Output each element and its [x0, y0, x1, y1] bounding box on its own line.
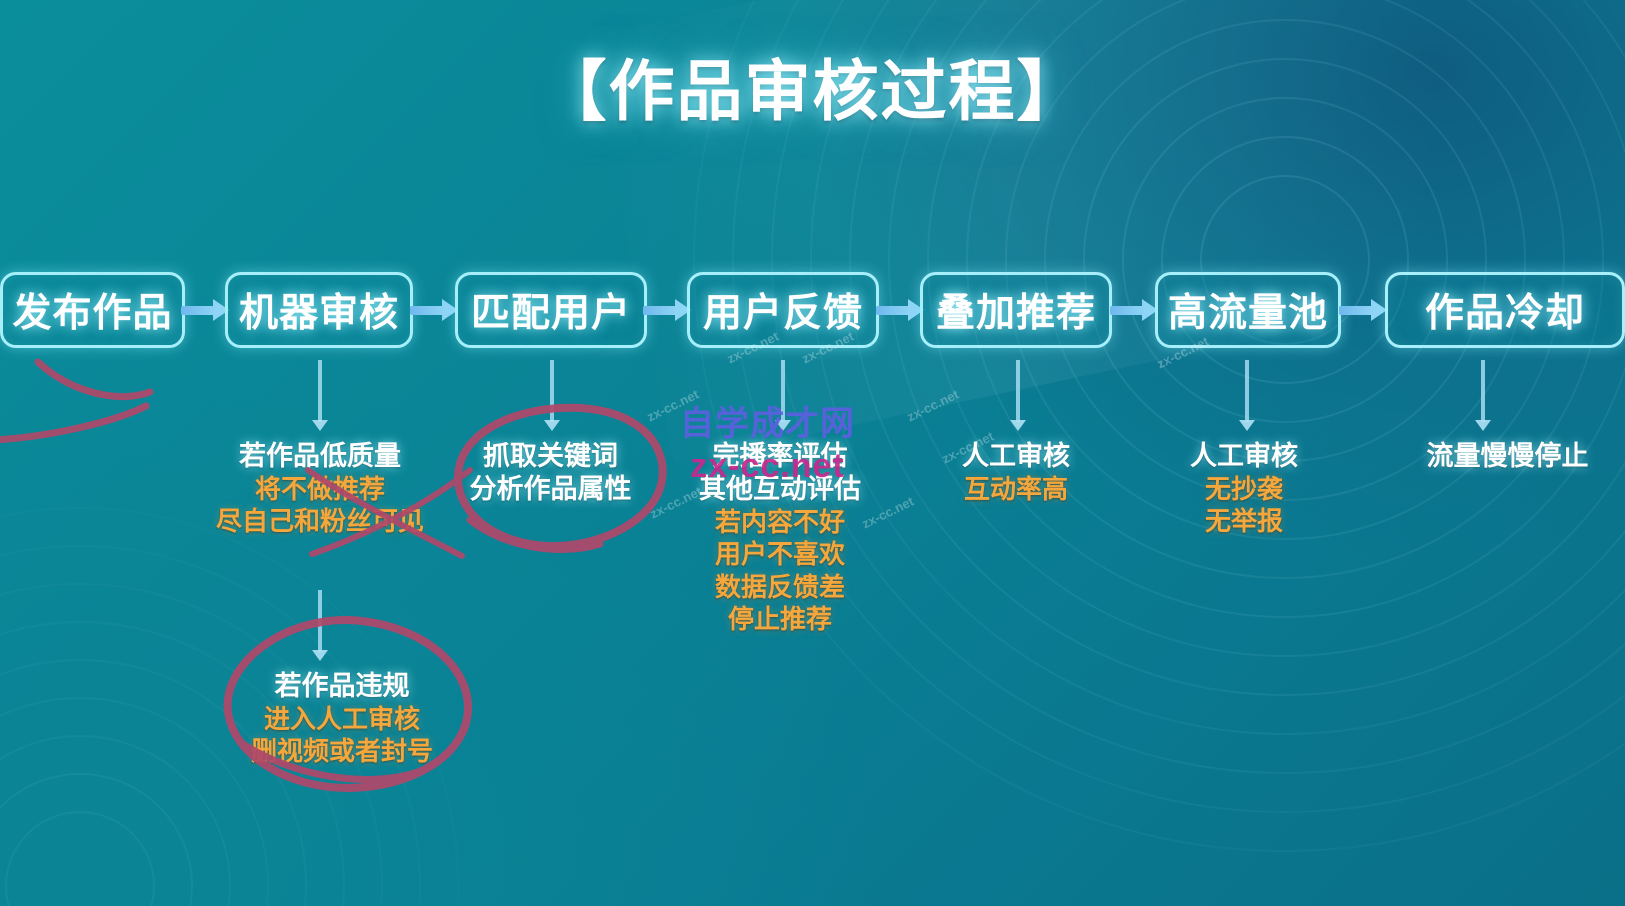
down-arrow-superimposed-recommend-detail	[1010, 360, 1026, 422]
arrow-shaft	[318, 590, 322, 652]
column-highlight-line: 若作品违规	[222, 670, 462, 703]
arrow-shaft	[1016, 360, 1020, 422]
down-arrow-high-traffic-pool-detail	[1239, 360, 1255, 422]
flow-node-label: 用户反馈	[703, 282, 863, 338]
arrow-shaft	[318, 360, 322, 422]
arrow-head	[1010, 420, 1026, 431]
arrow-shaft	[181, 306, 215, 315]
flow-arrow-6	[1339, 299, 1387, 321]
process-flow-row: 发布作品机器审核匹配用户用户反馈叠加推荐高流量池作品冷却	[0, 272, 1625, 350]
column-machine-review-low-quality: 若作品低质量将不做推荐尽自己和粉丝可见	[200, 440, 440, 538]
flow-arrow-3	[643, 299, 691, 321]
flow-arrow-1	[181, 299, 229, 321]
flow-node-label: 发布作品	[12, 282, 172, 338]
arrow-shaft	[1339, 306, 1373, 315]
column-sub-line: 用户不喜欢	[685, 538, 875, 571]
column-sub-line: 将不做推荐	[200, 473, 440, 506]
column-highlight-line: 抓取关键词	[443, 440, 658, 473]
flow-node-label: 作品冷却	[1425, 282, 1585, 338]
arrow-shaft	[1481, 360, 1485, 422]
flow-arrow-2	[410, 299, 458, 321]
column-high-traffic-pool-detail: 人工审核无抄袭无举报	[1158, 440, 1330, 538]
column-sub-line: 无抄袭	[1158, 473, 1330, 506]
column-sub-line: 尽自己和粉丝可见	[200, 505, 440, 538]
arrow-shaft	[643, 306, 677, 315]
flow-node-1[interactable]: 发布作品	[0, 272, 185, 348]
down-arrow-machine-review-low-quality	[312, 360, 328, 422]
flow-node-3[interactable]: 匹配用户	[455, 272, 647, 348]
column-highlight-line: 流量慢慢停止	[1390, 440, 1625, 473]
flow-node-label: 高流量池	[1168, 282, 1328, 338]
arrow-head	[312, 650, 328, 661]
watermark-line-2: zx-cc.net	[680, 447, 855, 486]
arrow-head	[544, 420, 560, 431]
flow-arrow-5	[1110, 299, 1158, 321]
arrow-shaft	[1110, 306, 1144, 315]
column-highlight-line: 分析作品属性	[443, 473, 658, 506]
flow-node-5[interactable]: 叠加推荐	[920, 272, 1112, 348]
watermark-main: 自学成才网 zx-cc.net	[680, 396, 855, 486]
arrow-shaft	[410, 306, 444, 315]
column-sub-line: 无举报	[1158, 505, 1330, 538]
flow-node-label: 匹配用户	[471, 282, 631, 338]
column-highlight-line: 若作品低质量	[200, 440, 440, 473]
flow-node-2[interactable]: 机器审核	[225, 272, 413, 348]
arrow-shaft	[876, 306, 910, 315]
arrow-head	[1475, 420, 1491, 431]
column-highlight-line: 人工审核	[1158, 440, 1330, 473]
watermark-line-1: 自学成才网	[680, 396, 855, 445]
column-sub-line: 进入人工审核	[222, 703, 462, 736]
page-title: 【作品审核过程】	[0, 38, 1625, 134]
flow-node-6[interactable]: 高流量池	[1155, 272, 1341, 348]
flow-node-label: 叠加推荐	[936, 282, 1096, 338]
column-work-cooldown-detail: 流量慢慢停止	[1390, 440, 1625, 473]
down-arrow-match-user-detail	[544, 360, 560, 422]
column-machine-review-violation: 若作品违规进入人工审核删视频或者封号	[222, 670, 462, 768]
column-sub-line: 互动率高	[930, 473, 1102, 506]
down-arrow-machine-review-violation	[312, 590, 328, 652]
column-sub-line: 若内容不好	[685, 506, 875, 539]
column-sub-line: 删视频或者封号	[222, 735, 462, 768]
flow-node-7[interactable]: 作品冷却	[1385, 272, 1625, 348]
flow-node-label: 机器审核	[239, 282, 399, 338]
down-arrow-work-cooldown-detail	[1475, 360, 1491, 422]
column-sub-line: 停止推荐	[685, 603, 875, 636]
flow-arrow-4	[876, 299, 924, 321]
column-sub-line: 数据反馈差	[685, 571, 875, 604]
arrow-shaft	[1245, 360, 1249, 422]
column-match-user-detail: 抓取关键词分析作品属性	[443, 440, 658, 506]
arrow-head	[312, 420, 328, 431]
arrow-shaft	[550, 360, 554, 422]
arrow-head	[1239, 420, 1255, 431]
